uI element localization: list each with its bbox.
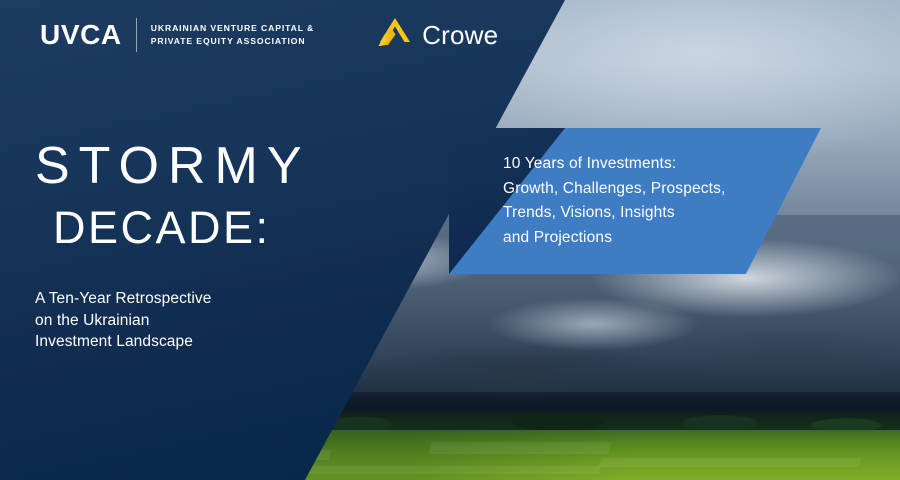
uvca-wordmark: UKRAINIAN VENTURE CAPITAL & PRIVATE EQUI… bbox=[151, 22, 314, 47]
crowe-chevron-icon bbox=[378, 17, 412, 52]
crowe-wordmark: Crowe bbox=[422, 22, 498, 48]
crowe-logo[interactable]: Crowe bbox=[378, 17, 498, 52]
title-line-decade: DECADE: bbox=[53, 200, 311, 256]
page-title: STORMY DECADE: bbox=[35, 138, 311, 256]
field-stripe bbox=[299, 466, 601, 474]
banner-text: 10 Years of Investments: Growth, Challen… bbox=[503, 152, 803, 250]
uvca-logo[interactable]: UVCA UKRAINIAN VENTURE CAPITAL & PRIVATE… bbox=[40, 18, 314, 52]
field-stripe bbox=[428, 442, 611, 454]
subtitle-text: A Ten-Year Retrospective on the Ukrainia… bbox=[35, 288, 211, 353]
field-stripe bbox=[599, 458, 862, 467]
vertical-divider-icon bbox=[136, 18, 137, 52]
cover-poster: 10 Years of Investments: Growth, Challen… bbox=[0, 0, 900, 480]
logo-bar: UVCA UKRAINIAN VENTURE CAPITAL & PRIVATE… bbox=[40, 17, 498, 52]
title-line-stormy: STORMY bbox=[35, 138, 311, 194]
uvca-mark: UVCA bbox=[40, 21, 122, 49]
